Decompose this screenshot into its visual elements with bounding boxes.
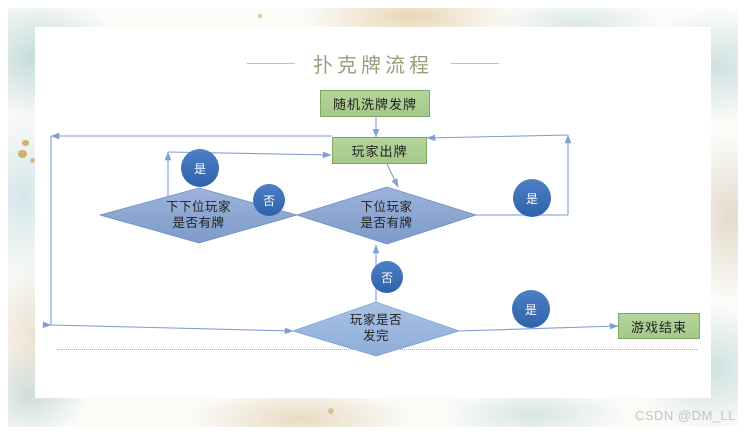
process-node-play[interactable]: 玩家出牌 bbox=[332, 137, 427, 164]
edge-label-yes-left-text: 是 bbox=[194, 160, 206, 177]
edge-right-gutter-to-play bbox=[427, 135, 568, 138]
decision-label-line2: 发完 bbox=[363, 329, 389, 345]
decision-node-player-finished[interactable]: 玩家是否 发完 bbox=[293, 302, 459, 356]
decision-node-player-finished-label: 玩家是否 发完 bbox=[293, 302, 459, 356]
gold-speck bbox=[22, 140, 29, 146]
slide-content-card: 扑克牌流程 bbox=[35, 27, 711, 398]
edge-left-gutter-to-finished bbox=[51, 325, 293, 331]
edge-label-no-between-diamonds-text: 否 bbox=[263, 192, 275, 209]
decision-label-line1: 下下位玩家 bbox=[166, 200, 231, 216]
gold-speck bbox=[328, 408, 334, 414]
edge-label-no-between-diamonds[interactable]: 否 bbox=[253, 184, 285, 216]
process-node-end[interactable]: 游戏结束 bbox=[618, 313, 700, 339]
gold-speck bbox=[258, 14, 262, 18]
process-node-play-label: 玩家出牌 bbox=[351, 141, 407, 160]
edge-finished-yes-to-end bbox=[459, 326, 618, 331]
decision-label-line1: 玩家是否 bbox=[350, 313, 402, 329]
decision-label-line2: 是否有牌 bbox=[172, 216, 224, 232]
decision-label-line2: 是否有牌 bbox=[360, 216, 412, 232]
slide-canvas: 扑克牌流程 bbox=[0, 0, 746, 435]
decision-node-next-has-cards[interactable]: 下位玩家 是否有牌 bbox=[297, 187, 476, 244]
edge-label-yes-right[interactable]: 是 bbox=[513, 179, 551, 217]
edge-label-yes-to-end-text: 是 bbox=[525, 301, 537, 318]
watermark: CSDN @DM_LL bbox=[635, 408, 736, 423]
edge-label-no-up-text: 否 bbox=[381, 269, 393, 286]
edge-label-yes-left[interactable]: 是 bbox=[181, 149, 219, 187]
process-node-end-label: 游戏结束 bbox=[631, 317, 687, 336]
gold-speck bbox=[18, 150, 27, 158]
edge-label-yes-right-text: 是 bbox=[526, 190, 538, 207]
process-node-start[interactable]: 随机洗牌发牌 bbox=[320, 90, 430, 117]
edge-label-yes-to-end[interactable]: 是 bbox=[512, 290, 550, 328]
process-node-start-label: 随机洗牌发牌 bbox=[333, 94, 417, 113]
edge-play-to-center-diamond bbox=[387, 164, 398, 187]
edge-label-no-up-from-finished[interactable]: 否 bbox=[371, 261, 403, 293]
decision-label-line1: 下位玩家 bbox=[360, 200, 412, 216]
decision-node-next-has-cards-label: 下位玩家 是否有牌 bbox=[297, 187, 476, 244]
dotted-divider bbox=[57, 349, 697, 350]
